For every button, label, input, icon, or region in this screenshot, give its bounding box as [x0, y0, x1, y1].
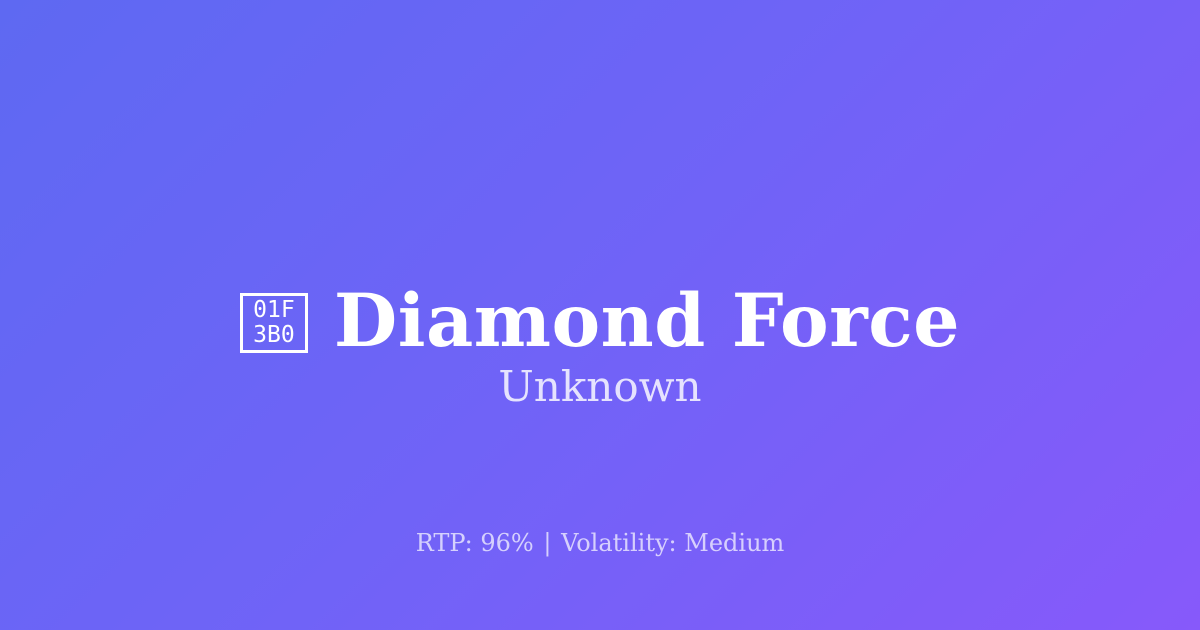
- tofu-codepoint-bottom: 3B0: [253, 323, 295, 348]
- og-share-card: 01F 3B0 Diamond Force Unknown RTP: 96% |…: [0, 0, 1200, 630]
- game-stats-line: RTP: 96% | Volatility: Medium: [0, 528, 1200, 558]
- volatility-value: Medium: [684, 529, 784, 557]
- game-provider-subtitle: Unknown: [0, 362, 1200, 412]
- meta-separator: |: [541, 529, 553, 557]
- rtp-label: RTP:: [416, 529, 473, 557]
- rtp-value: 96%: [480, 529, 533, 557]
- slot-machine-icon: 01F 3B0: [240, 293, 308, 353]
- page-title: Diamond Force: [334, 281, 960, 361]
- tofu-codepoint-top: 01F: [253, 298, 295, 323]
- volatility-label: Volatility:: [561, 529, 677, 557]
